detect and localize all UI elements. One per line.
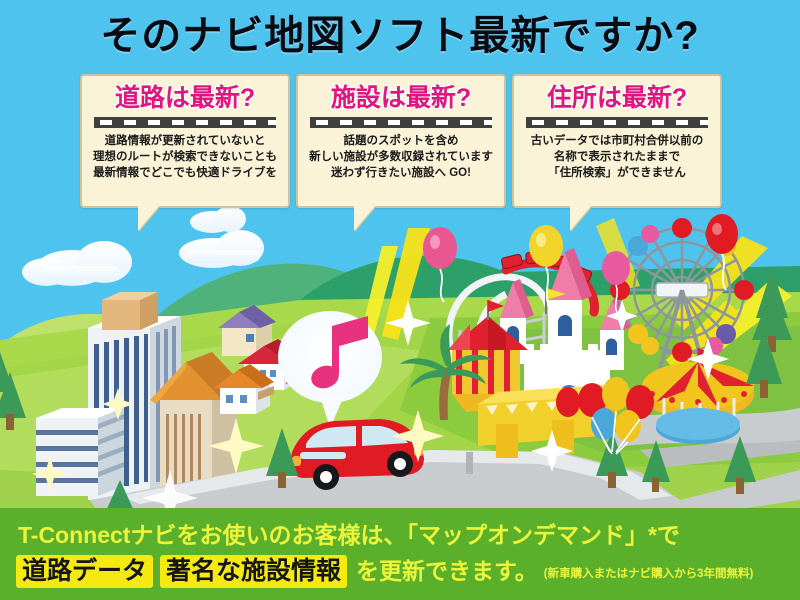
feature-box-address-title: 住所は最新? bbox=[514, 83, 720, 113]
banner-line-2-tail: を更新できます。 bbox=[356, 552, 538, 586]
speech-tail bbox=[354, 205, 376, 231]
page-title: そのナビ地図ソフト最新ですか? bbox=[0, 8, 800, 64]
feature-box-facility-line-1: 話題のスポットを含め bbox=[303, 133, 499, 149]
feature-box-road: 道路は最新? 道路情報が更新されていないと 理想のルートが検索できないことも 最… bbox=[80, 74, 290, 208]
feature-box-facility-line-2: 新しい施設が多数収録されています bbox=[303, 149, 499, 165]
banner-line-1: T-Connectナビをお使いのお客様は、「マップオンデマンド」*で bbox=[18, 516, 680, 550]
feature-box-address-body: 古いデータでは市町村合併以前の 名称で表示されたままで 「住所検索」ができません bbox=[514, 133, 720, 181]
feature-box-facility: 施設は最新? 話題のスポットを含め 新しい施設が多数収録されています 迷わず行き… bbox=[296, 74, 506, 208]
cloud-icon-2 bbox=[179, 230, 264, 268]
bottom-banner: T-Connectナビをお使いのお客様は、「マップオンデマンド」*で 道路データ… bbox=[0, 508, 800, 600]
banner-line-2: 道路データ 著名な施設情報 を更新できます。 (新車購入またはナビ購入から3年間… bbox=[16, 552, 753, 588]
cloud-icon-1 bbox=[22, 241, 132, 286]
feature-box-facility-line-3: 迷わず行きたい施設へ GO! bbox=[303, 165, 499, 181]
feature-box-facility-title: 施設は最新? bbox=[298, 83, 504, 113]
banner-footnote: (新車購入またはナビ購入から3年間無料) bbox=[544, 565, 754, 581]
feature-box-road-line-1: 道路情報が更新されていないと bbox=[87, 133, 283, 149]
banner-highlight-facility-info: 著名な施設情報 bbox=[160, 555, 347, 588]
road-divider-icon bbox=[526, 117, 708, 128]
feature-boxes-group: 道路は最新? 道路情報が更新されていないと 理想のルートが検索できないことも 最… bbox=[0, 74, 800, 224]
feature-box-address-line-3: 「住所検索」ができません bbox=[519, 165, 715, 181]
feature-box-road-line-2: 理想のルートが検索できないことも bbox=[87, 149, 283, 165]
road-divider-icon bbox=[94, 117, 276, 128]
feature-box-address: 住所は最新? 古いデータでは市町村合併以前の 名称で表示されたままで 「住所検索… bbox=[512, 74, 722, 208]
road-divider-icon bbox=[310, 117, 492, 128]
speech-tail bbox=[570, 205, 592, 231]
feature-box-road-line-3: 最新情報でどこでも快適ドライブを bbox=[87, 165, 283, 181]
advertisement-page: そのナビ地図ソフト最新ですか? 道路は最新? 道路情報が更新されていないと 理想… bbox=[0, 0, 800, 600]
feature-box-address-line-1: 古いデータでは市町村合併以前の bbox=[519, 133, 715, 149]
feature-box-address-line-2: 名称で表示されたままで bbox=[519, 149, 715, 165]
feature-box-road-body: 道路情報が更新されていないと 理想のルートが検索できないことも 最新情報でどこで… bbox=[82, 133, 288, 181]
feature-box-facility-body: 話題のスポットを含め 新しい施設が多数収録されています 迷わず行きたい施設へ G… bbox=[298, 133, 504, 181]
speech-tail bbox=[138, 205, 160, 231]
feature-box-road-title: 道路は最新? bbox=[82, 83, 288, 113]
banner-highlight-road-data: 道路データ bbox=[16, 555, 153, 588]
